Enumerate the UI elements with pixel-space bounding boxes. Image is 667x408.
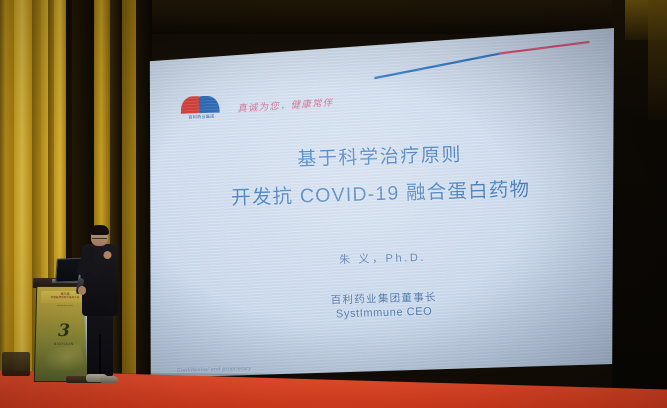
baili-arch-logo-icon: 百利药业集团: [181, 95, 222, 120]
gold-pillar: [122, 0, 136, 408]
ceiling-shadow: [150, 0, 612, 34]
conference-photo: 百利药业集团 真诚为您，健康常伴 基于科学治疗原则 开发抗 COVID-19 融…: [0, 0, 667, 408]
accent-line-decoration: [371, 40, 592, 80]
logo-script-slogan: 真诚为您，健康常伴: [237, 95, 334, 115]
presentation-slide: 百利药业集团 真诚为您，健康常伴 基于科学治疗原则 开发抗 COVID-19 融…: [143, 21, 619, 384]
side-furniture: [2, 352, 30, 376]
gold-pillar: [14, 0, 32, 408]
slide-title-block: 基于科学治疗原则 开发抗 COVID-19 融合蛋白药物: [146, 133, 614, 220]
speaker-leg-split: [99, 334, 101, 376]
speaker-raised-arm: [75, 245, 96, 277]
gold-pillar: [0, 0, 14, 408]
dark-gap: [136, 0, 152, 408]
slide-footer-note: Confidential and proprietary: [177, 366, 252, 374]
speaker-mic-hand: [78, 286, 86, 295]
logo-arch-right: [198, 96, 219, 114]
slide-logo-row: 百利药业集团 真诚为您，健康常伴: [181, 91, 334, 119]
projection-screen: 百利药业集团 真诚为您，健康常伴 基于科学治疗原则 开发抗 COVID-19 融…: [148, 28, 614, 378]
speaker-shoe: [100, 376, 118, 383]
presenter-name: 朱 义，Ph.D.: [149, 243, 615, 272]
slide-presenter-block: 朱 义，Ph.D. 百利药业集团董事长 SystImmune CEO: [149, 243, 617, 326]
right-wall-gold-trim: [648, 0, 667, 120]
logo-wordmark: 百利药业集团: [181, 114, 221, 121]
speaker-person: [74, 226, 122, 384]
speaker-glasses-icon: [92, 234, 107, 239]
